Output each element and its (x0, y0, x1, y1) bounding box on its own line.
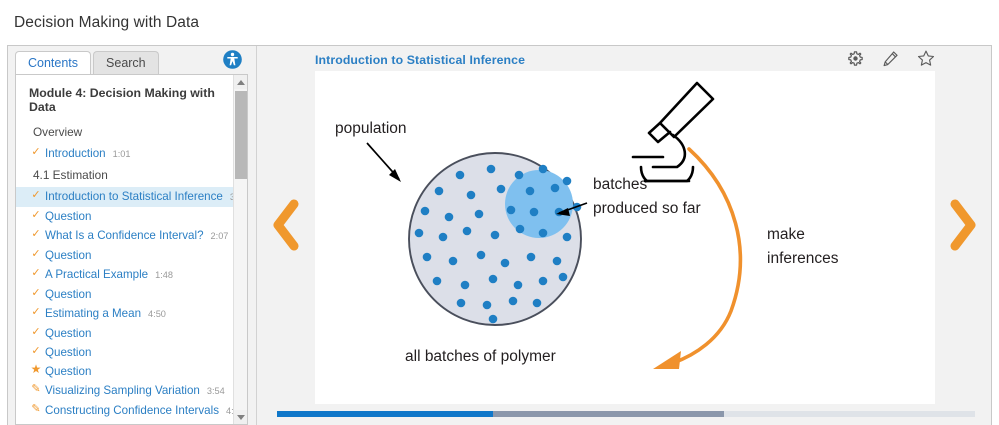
content-toolbar (847, 49, 935, 67)
sidebar-scrollbar[interactable] (233, 75, 247, 424)
toc-item-label: Introduction to Statistical Inference (45, 189, 223, 204)
statistical-inference-diagram: population batches produced so far all b… (315, 71, 880, 404)
content-panel: Introduction to Statistical Inference (257, 46, 991, 425)
toc-section-heading-estimation: 4.1 Estimation (16, 164, 233, 187)
sidebar: Contents Search Module 4: Decision Makin… (8, 46, 257, 425)
toc-item-question-4[interactable]: ✓ Question (16, 324, 233, 343)
progress-buffered-segment (493, 411, 723, 417)
completed-check-icon: ✓ (30, 267, 42, 280)
make-inferences-label-line2: inferences (767, 250, 839, 267)
module-title: Module 4: Decision Making with Data (16, 83, 233, 121)
toc-section-heading-overview: Overview (16, 121, 233, 144)
toc-item-label: Question (45, 287, 91, 302)
toc-item-question-5[interactable]: ✓ Question (16, 343, 233, 362)
scroll-down-icon[interactable] (234, 410, 248, 424)
course-player-frame: Contents Search Module 4: Decision Makin… (7, 45, 992, 425)
toc-item-question-2[interactable]: ✓ Question (16, 246, 233, 265)
completed-check-icon: ✓ (30, 189, 42, 202)
content-title: Introduction to Statistical Inference (315, 53, 525, 67)
completed-check-icon: ✓ (30, 248, 42, 261)
toc-item-duration: 4:44 (226, 404, 233, 419)
toc-item-introduction[interactable]: ✓ Introduction 1:01 (16, 144, 233, 164)
toc-item-label: Estimating a Mean (45, 306, 141, 321)
tab-search[interactable]: Search (93, 51, 159, 74)
make-inferences-arrowhead (653, 351, 681, 369)
sidebar-tabs: Contents Search (8, 46, 256, 74)
toc-item-label: Question (45, 248, 91, 263)
toc-item-question-6[interactable]: ★ Question (16, 362, 233, 381)
population-label: population (335, 120, 407, 137)
page-title: Decision Making with Data (14, 14, 199, 32)
scrollbar-thumb[interactable] (235, 91, 247, 179)
toc-item-duration: 1:48 (155, 268, 173, 283)
toc-item-label: Question (45, 209, 91, 224)
toc-item-label: Question (45, 326, 91, 341)
pencil-icon: ✎ (30, 383, 42, 396)
next-slide-arrow[interactable] (933, 46, 991, 404)
toc-item-label: Question (45, 364, 91, 379)
batches-label-line1: batches (593, 176, 648, 193)
toc-item-label: Question (45, 345, 91, 360)
toc-item-duration: 3:54 (207, 384, 225, 399)
microscope-icon (633, 83, 713, 181)
toc-item-question-3[interactable]: ✓ Question (16, 285, 233, 304)
completed-check-icon: ✓ (30, 146, 42, 159)
progress-played-segment (277, 411, 493, 417)
toc-item-constructing-confidence-intervals[interactable]: ✎ Constructing Confidence Intervals 4:44 (16, 401, 233, 421)
completed-check-icon: ✓ (30, 306, 42, 319)
toc-scroll-region: Module 4: Decision Making with Data Over… (16, 75, 233, 424)
all-batches-label: all batches of polymer (405, 348, 556, 365)
scroll-up-icon[interactable] (234, 75, 248, 89)
make-inferences-label-line1: make (767, 226, 805, 243)
toc-item-what-is-a-confidence-interval[interactable]: ✓ What Is a Confidence Interval? 2:07 (16, 226, 233, 246)
toc-item-label: Visualizing Sampling Variation (45, 383, 200, 398)
toc-item-duration: 4:50 (148, 307, 166, 322)
completed-check-icon: ✓ (30, 209, 42, 222)
toc-item-introduction-to-statistical-inference[interactable]: ✓ Introduction to Statistical Inference … (16, 187, 233, 207)
slide-stage: population batches produced so far all b… (315, 71, 935, 404)
table-of-contents-panel: Module 4: Decision Making with Data Over… (15, 74, 248, 425)
settings-gear-icon[interactable] (847, 50, 864, 67)
toc-item-label: Constructing Confidence Intervals (45, 403, 219, 418)
video-progress-bar[interactable] (277, 411, 975, 417)
toc-item-question-1[interactable]: ✓ Question (16, 207, 233, 226)
accessibility-icon[interactable] (223, 50, 242, 69)
toc-item-duration: 1:01 (113, 147, 131, 162)
completed-check-icon: ✓ (30, 228, 42, 241)
toc-item-duration: 2:07 (211, 229, 229, 244)
completed-check-icon: ✓ (30, 345, 42, 358)
completed-check-icon: ✓ (30, 287, 42, 300)
star-icon: ★ (30, 363, 42, 376)
toc-item-estimating-a-mean[interactable]: ✓ Estimating a Mean 4:50 (16, 304, 233, 324)
toc-item-label: Practice: Constructing a Confidence Inte… (45, 423, 233, 424)
previous-slide-arrow[interactable] (257, 46, 315, 404)
toc-item-label: What Is a Confidence Interval? (45, 228, 204, 243)
progress-remaining-segment (724, 411, 975, 417)
pencil-icon: ✎ (30, 403, 42, 416)
pencil-edit-icon[interactable] (882, 50, 899, 67)
toc-item-visualizing-sampling-variation[interactable]: ✎ Visualizing Sampling Variation 3:54 (16, 381, 233, 401)
toc-item-label: Introduction (45, 146, 106, 161)
toc-item-practice-constructing-a-confidence-interval[interactable]: ✓ Practice: Constructing a Confidence In… (16, 421, 233, 424)
toc-item-a-practical-example[interactable]: ✓ A Practical Example 1:48 (16, 265, 233, 285)
completed-check-icon: ✓ (30, 326, 42, 339)
tab-contents[interactable]: Contents (15, 51, 91, 74)
toc-item-label: A Practical Example (45, 267, 148, 282)
batches-label-line2: produced so far (593, 200, 701, 217)
completed-check-icon: ✓ (30, 423, 42, 424)
